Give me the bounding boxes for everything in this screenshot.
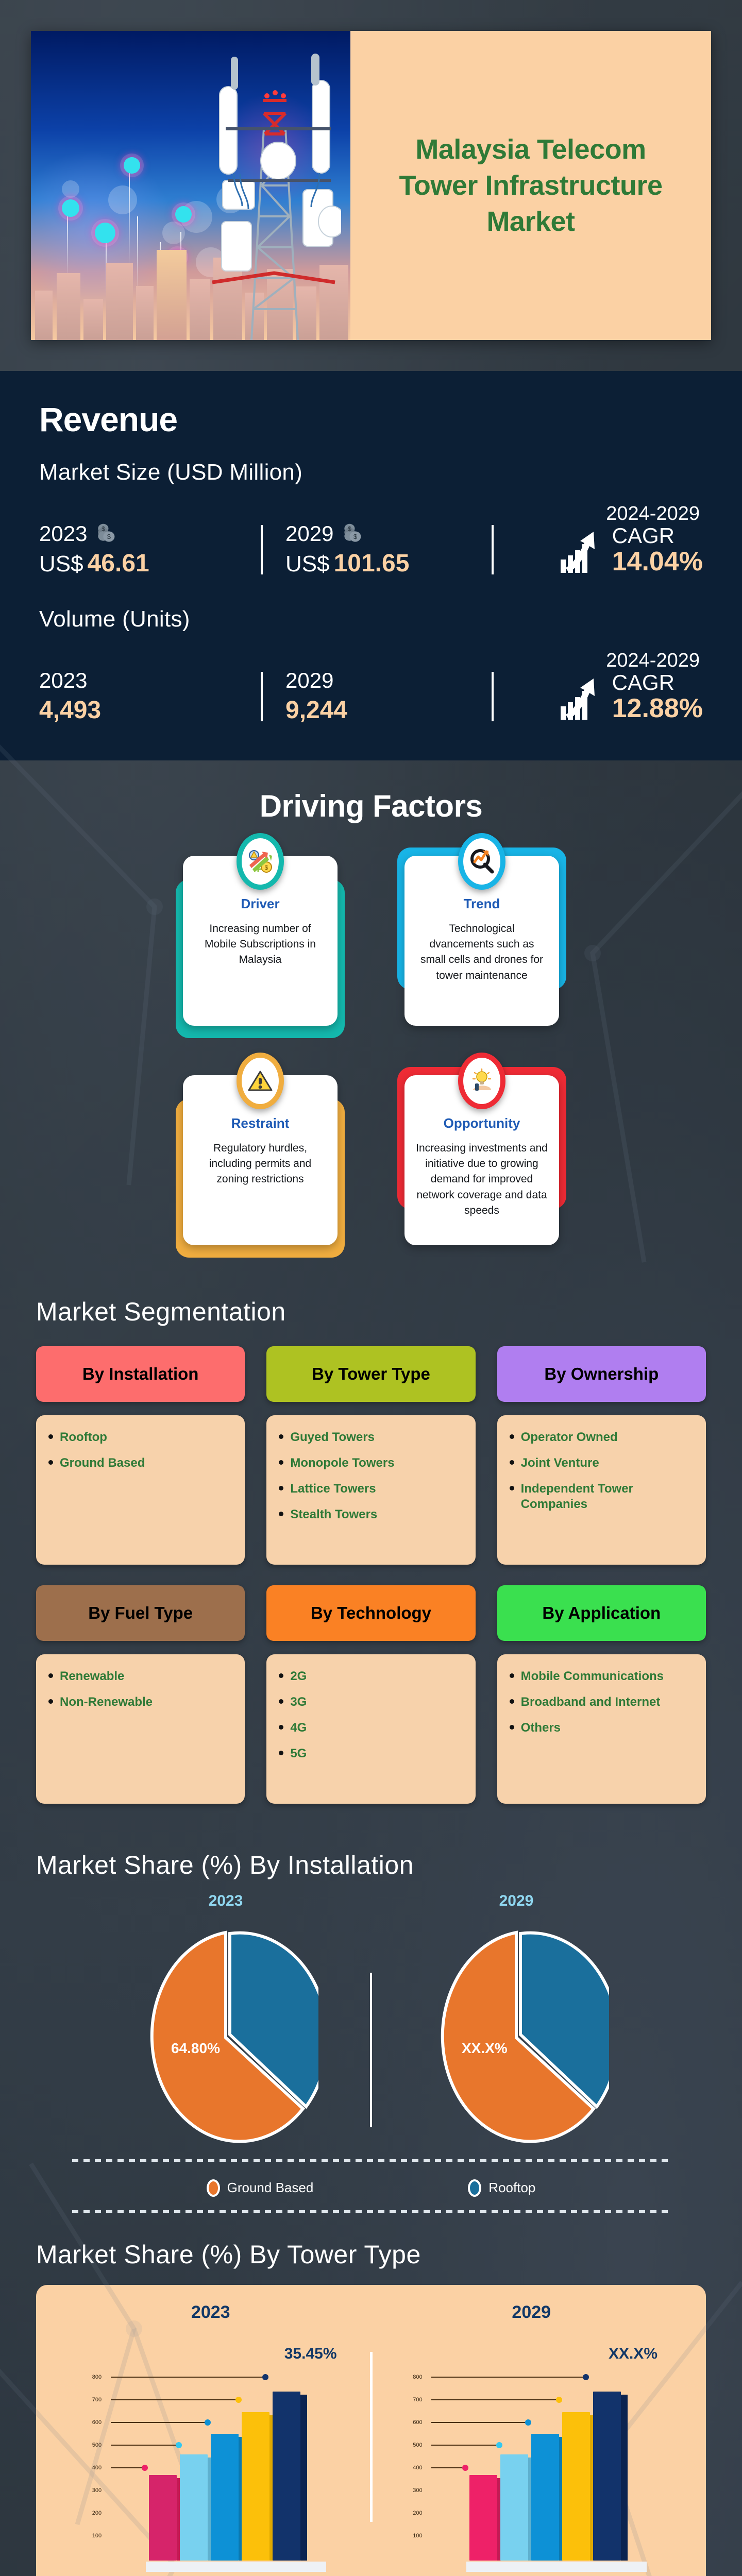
- volume-2029: 2029 9,244: [285, 668, 492, 724]
- divider: [261, 672, 263, 721]
- segment-items: Mobile Communications Broadband and Inte…: [497, 1654, 706, 1804]
- volume-2029-value: 9,244: [285, 696, 492, 724]
- segmentation-grid-row-1: By Installation Rooftop Ground Based By …: [36, 1346, 706, 1565]
- segment-group-by-installation: By Installation Rooftop Ground Based: [36, 1346, 245, 1565]
- svg-text:$: $: [348, 525, 352, 532]
- segment-group-by-technology: By Technology 2G 3G 4G 5G: [266, 1585, 475, 1804]
- divider: [492, 672, 494, 721]
- driver-card: $ Driver Increasing number of Mobile Sub…: [183, 856, 338, 1026]
- segment-header: By Technology: [266, 1585, 475, 1641]
- hero-banner: Malaysia Telecom Tower Infrastructure Ma…: [31, 31, 711, 340]
- volume-cagr: 2024-2029 CAGR 12.88%: [558, 650, 703, 724]
- svg-text:$: $: [265, 864, 268, 871]
- warning-triangle-icon: [237, 1053, 284, 1109]
- pie-legend: Ground Based Rooftop: [36, 2162, 706, 2210]
- page-title: Malaysia Telecom Tower Infrastructure Ma…: [381, 131, 680, 240]
- pie-2029: XX.X%: [424, 1929, 609, 2146]
- list-item: Independent Tower Companies: [510, 1481, 694, 1512]
- bar-chart-panel: 2023 35.45% 800 700 600 500 400 300 200 …: [36, 2285, 706, 2576]
- segment-header: By Tower Type: [266, 1346, 475, 1402]
- bar-chart-2023: 800 700 600 500 400 300 200 100: [92, 2366, 329, 2572]
- legend-color-swatch: [207, 2179, 220, 2197]
- list-item: 3G: [279, 1694, 463, 1710]
- gears-growth-icon: $: [237, 833, 284, 890]
- pie-svg: [133, 1929, 318, 2146]
- volume-label: Volume (Units): [39, 606, 703, 632]
- card-body: Increasing number of Mobile Subscription…: [194, 921, 326, 968]
- legend-item-ground-based: Ground Based: [207, 2179, 314, 2197]
- legend-item-rooftop: Rooftop: [468, 2179, 535, 2197]
- svg-text:$: $: [353, 533, 357, 540]
- list-item: 2G: [279, 1669, 463, 1684]
- volume-2029-year: 2029: [285, 668, 333, 693]
- pie-chart-heading: Market Share (%) By Installation: [36, 1850, 706, 1880]
- bar-value-label: XX.X%: [609, 2345, 657, 2363]
- segment-items: Operator Owned Joint Venture Independent…: [497, 1415, 706, 1565]
- card-title: Restraint: [194, 1115, 326, 1131]
- market-size-2029-unit: US$: [285, 551, 330, 577]
- svg-text:$: $: [102, 525, 106, 532]
- segment-group-by-fuel-type: By Fuel Type Renewable Non-Renewable: [36, 1585, 245, 1804]
- chart-base: [146, 2562, 326, 2572]
- volume-cagr-label: CAGR: [612, 672, 703, 693]
- segment-header: By Ownership: [497, 1346, 706, 1402]
- mobile-icon: [175, 206, 192, 223]
- icon-bubble: [62, 180, 79, 198]
- divider: [261, 525, 263, 574]
- card-title: Trend: [416, 896, 548, 912]
- hero-title-panel: Malaysia Telecom Tower Infrastructure Ma…: [350, 31, 711, 340]
- segment-items: Guyed Towers Monopole Towers Lattice Tow…: [266, 1415, 475, 1565]
- volume-row: 2023 4,493 2029 9,244 2024-2029: [39, 650, 703, 724]
- market-size-cagr-period: 2024-2029: [606, 503, 700, 525]
- search-icon: [124, 157, 140, 174]
- hero-illustration: [31, 31, 350, 340]
- segment-group-by-tower-type: By Tower Type Guyed Towers Monopole Towe…: [266, 1346, 475, 1565]
- trend-magnifier-icon: [458, 833, 505, 890]
- market-size-cagr: 2024-2029 CAGR 14.04%: [558, 503, 703, 578]
- list-item: Renewable: [48, 1669, 232, 1684]
- segment-header: By Installation: [36, 1346, 245, 1402]
- driving-factors-row-2: Restraint Regulatory hurdles, including …: [0, 1075, 742, 1245]
- revenue-section: Revenue Market Size (USD Million) 2023 $…: [0, 371, 742, 760]
- card-body: Technological dvancements such as small …: [416, 921, 548, 984]
- pie-year-label: 2029: [499, 1892, 534, 1910]
- coins-icon: $ $: [341, 522, 363, 545]
- revenue-heading: Revenue: [39, 400, 703, 439]
- cell-tower-icon: [202, 52, 341, 340]
- volume-2023-value: 4,493: [39, 696, 261, 724]
- segment-group-by-application: By Application Mobile Communications Bro…: [497, 1585, 706, 1804]
- hero-section: Malaysia Telecom Tower Infrastructure Ma…: [0, 0, 742, 340]
- pie-chart-row: 2023 64.80% 2029: [36, 1892, 706, 2146]
- bar-year-label: 2023: [191, 2302, 230, 2323]
- segment-group-by-ownership: By Ownership Operator Owned Joint Ventur…: [497, 1346, 706, 1565]
- card-body: Regulatory hurdles, including permits an…: [194, 1141, 326, 1188]
- pie-svg: [424, 1929, 609, 2146]
- infographic-page: Malaysia Telecom Tower Infrastructure Ma…: [0, 0, 742, 2576]
- segmentation-grid-row-2: By Fuel Type Renewable Non-Renewable By …: [36, 1585, 706, 1804]
- market-size-2029: 2029 $ $ US$101.65: [285, 521, 492, 578]
- segment-header: By Fuel Type: [36, 1585, 245, 1641]
- volume-2023-year: 2023: [39, 668, 87, 693]
- growth-arrow-icon: [558, 674, 605, 722]
- pie-panel-2023: 2023 64.80%: [81, 1892, 370, 2146]
- wifi-icon: [62, 199, 79, 217]
- volume-2023: 2023 4,493: [39, 668, 261, 724]
- segment-items: Renewable Non-Renewable: [36, 1654, 245, 1804]
- lightbulb-hand-glyph: [468, 1067, 495, 1094]
- segment-header: By Application: [497, 1585, 706, 1641]
- pie-value-label: 64.80%: [171, 2040, 220, 2057]
- legend-label: Ground Based: [227, 2180, 314, 2196]
- segmentation-section: Market Segmentation By Installation Roof…: [0, 1245, 742, 1804]
- card-body: Increasing investments and initiative du…: [416, 1141, 548, 1219]
- bar-chart-2029: 800 700 600 500 400 300 200 100: [413, 2366, 650, 2572]
- list-item: Operator Owned: [510, 1430, 694, 1445]
- bar-group: [469, 2391, 621, 2561]
- bar-year-label: 2029: [512, 2302, 551, 2323]
- segment-items: 2G 3G 4G 5G: [266, 1654, 475, 1804]
- pie-2023: 64.80%: [133, 1929, 318, 2146]
- restraint-card: Restraint Regulatory hurdles, including …: [183, 1075, 338, 1245]
- driving-factors-heading: Driving Factors: [0, 788, 742, 824]
- bar-panel-2029: 2029 XX.X% 800 700 600 500 400 300 200 1…: [373, 2302, 691, 2572]
- bar-chart-heading: Market Share (%) By Tower Type: [36, 2240, 706, 2269]
- chart-base: [466, 2562, 647, 2572]
- list-item: Mobile Communications: [510, 1669, 694, 1684]
- card-title: Driver: [194, 896, 326, 912]
- bar-panel-2023: 2023 35.45% 800 700 600 500 400 300 200 …: [52, 2302, 370, 2572]
- opportunity-card: Opportunity Increasing investments and i…: [404, 1075, 559, 1245]
- trend-card: Trend Technological dvancements such as …: [404, 856, 559, 1026]
- list-item: Non-Renewable: [48, 1694, 232, 1710]
- warning-triangle-glyph: [247, 1067, 274, 1094]
- legend-label: Rooftop: [488, 2180, 535, 2196]
- market-size-2029-value: 101.65: [334, 550, 410, 577]
- market-size-2023-unit: US$: [39, 551, 83, 577]
- market-size-2029-year: 2029: [285, 521, 333, 546]
- list-item: Rooftop: [48, 1430, 232, 1445]
- list-item: Joint Venture: [510, 1455, 694, 1471]
- list-item: Lattice Towers: [279, 1481, 463, 1497]
- gears-growth-glyph: $: [246, 848, 274, 875]
- list-item: Broadband and Internet: [510, 1694, 694, 1710]
- bar-group: [149, 2391, 300, 2561]
- coins-icon: $ $: [94, 522, 117, 545]
- market-size-2023-value: 46.61: [88, 550, 149, 577]
- market-size-cagr-label: CAGR: [612, 525, 703, 547]
- list-item: Others: [510, 1720, 694, 1736]
- list-item: Monopole Towers: [279, 1455, 463, 1471]
- list-item: 4G: [279, 1720, 463, 1736]
- lightbulb-hand-icon: [458, 1053, 505, 1109]
- list-item: 5G: [279, 1746, 463, 1761]
- svg-text:$: $: [107, 533, 111, 540]
- list-item: Stealth Towers: [279, 1507, 463, 1522]
- driving-factors-row-1: $ Driver Increasing number of Mobile Sub…: [0, 856, 742, 1026]
- card-title: Opportunity: [416, 1115, 548, 1131]
- market-size-cagr-value: 14.04%: [612, 547, 703, 578]
- legend-color-swatch: [468, 2179, 481, 2197]
- list-item: Guyed Towers: [279, 1430, 463, 1445]
- market-size-2023: 2023 $ $ US$46.61: [39, 521, 261, 578]
- icon-bubble: [108, 185, 137, 214]
- growth-arrow-icon: [558, 528, 605, 575]
- market-size-2023-year: 2023: [39, 521, 87, 546]
- segmentation-heading: Market Segmentation: [36, 1297, 706, 1327]
- pie-year-label: 2023: [209, 1892, 243, 1910]
- volume-cagr-value: 12.88%: [612, 693, 703, 724]
- driving-factors-section: Driving Factors $: [0, 760, 742, 1245]
- pie-panel-2029: 2029 XX.X%: [372, 1892, 661, 2146]
- bar-chart-section: Market Share (%) By Tower Type 2023 35.4…: [0, 2213, 742, 2576]
- divider: [492, 525, 494, 574]
- market-size-label: Market Size (USD Million): [39, 460, 703, 485]
- market-size-row: 2023 $ $ US$46.61 2029: [39, 503, 703, 578]
- trend-magnifier-glyph: [468, 848, 496, 875]
- bar-value-label: 35.45%: [284, 2345, 337, 2363]
- pie-value-label: XX.X%: [462, 2040, 508, 2057]
- pie-chart-section: Market Share (%) By Installation 2023 64…: [0, 1819, 742, 2213]
- volume-cagr-period: 2024-2029: [606, 650, 700, 672]
- list-item: Ground Based: [48, 1455, 232, 1471]
- segment-items: Rooftop Ground Based: [36, 1415, 245, 1565]
